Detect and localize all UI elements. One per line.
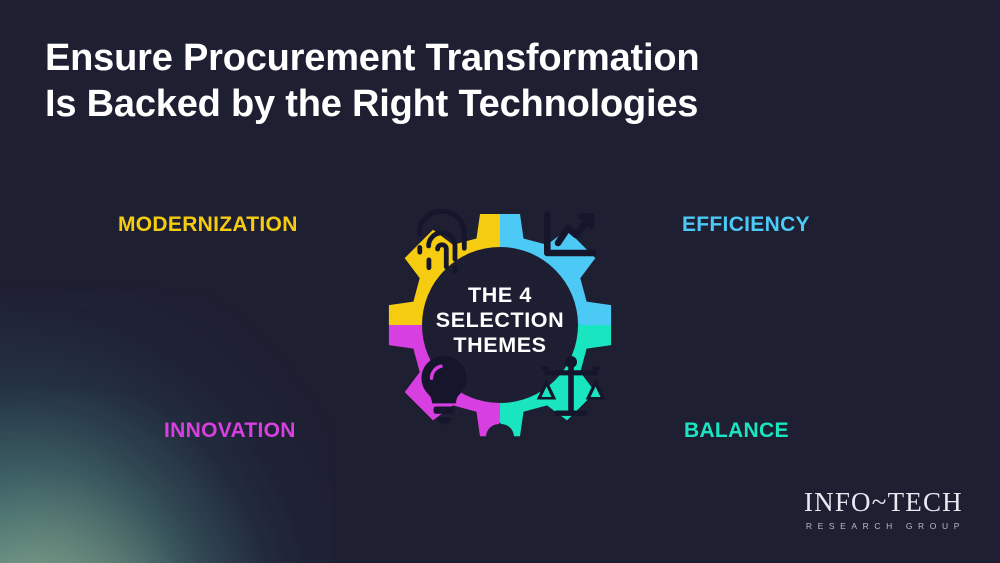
- brand-logo-name: INFO~TECH: [802, 489, 965, 516]
- brand-logo-tagline: RESEARCH GROUP: [806, 521, 965, 531]
- theme-label-balance[interactable]: BALANCE: [684, 419, 789, 443]
- theme-label-innovation[interactable]: INNOVATION: [164, 419, 296, 443]
- slide: Ensure Procurement Transformation Is Bac…: [0, 0, 1000, 563]
- brand-logo: INFO~TECH RESEARCH GROUP: [802, 489, 965, 531]
- theme-label-modernization[interactable]: MODERNIZATION: [118, 213, 298, 237]
- theme-label-efficiency[interactable]: EFFICIENCY: [682, 213, 810, 237]
- gear-diagram: THE 4 SELECTION THEMES: [310, 138, 690, 503]
- page-title: Ensure Procurement Transformation Is Bac…: [45, 35, 845, 128]
